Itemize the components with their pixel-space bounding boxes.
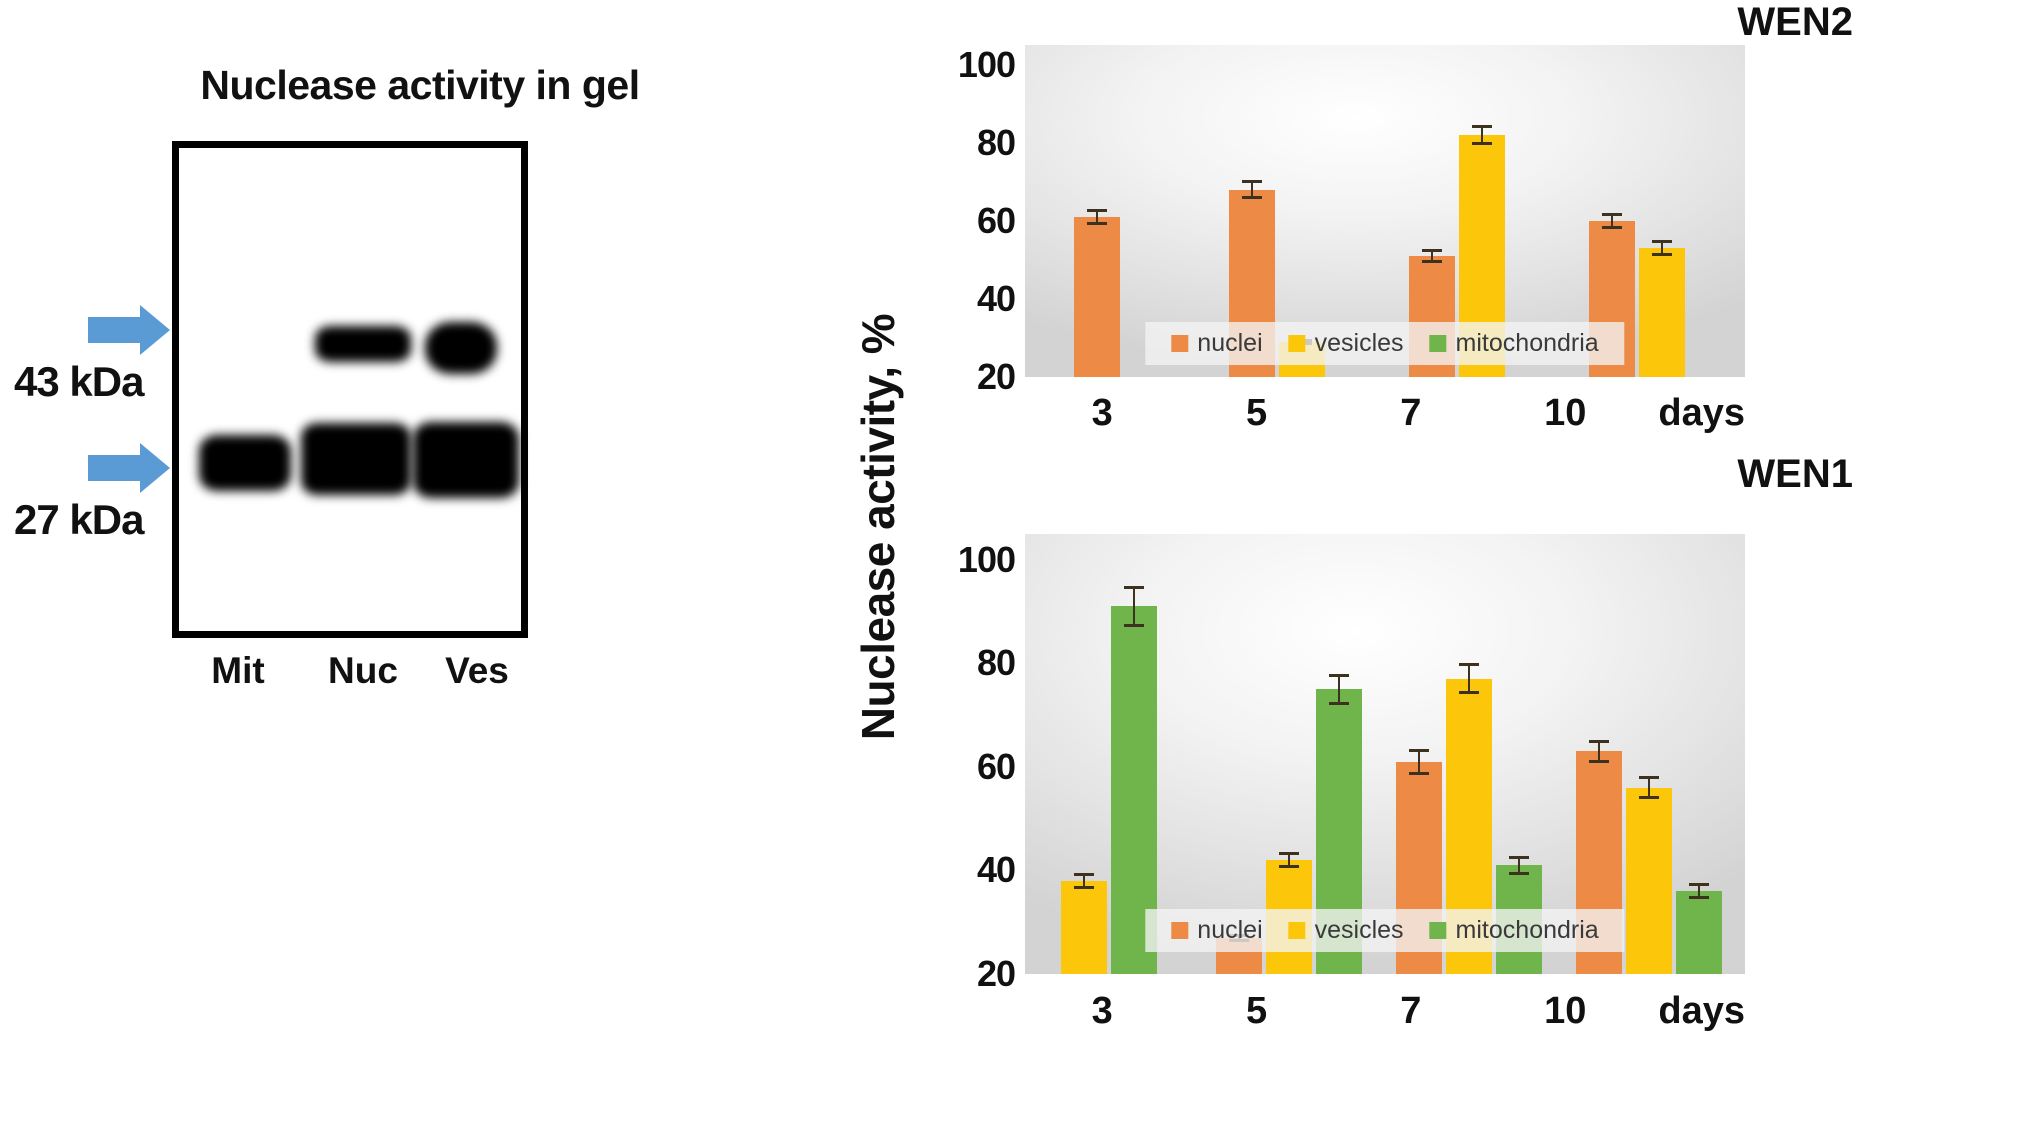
error-bar-nuclei-day7: [1431, 249, 1433, 263]
error-bar-vesicles-day10: [1648, 776, 1650, 799]
y-tick-40: 40: [895, 278, 1015, 320]
gel-lane-labels: Mit Nuc Ves: [172, 650, 532, 692]
legend-item-nuclei: nuclei: [1171, 916, 1262, 945]
y-axis-ticks-wen1: 10080604020: [885, 534, 1015, 974]
legend-label-vesicles: vesicles: [1315, 916, 1404, 945]
legend-swatch-mitochondria-icon: [1430, 335, 1447, 352]
chart-title-wen2: WEN2: [1737, 0, 1853, 45]
legend-item-mitochondria: mitochondria: [1430, 916, 1599, 945]
chart-legend-wen1: nucleivesiclesmitochondria: [1145, 909, 1624, 952]
bars-layer-wen1: [1025, 534, 1745, 974]
error-bar-mitochondria-day3: [1133, 586, 1135, 627]
gel-lane-label-nuc: Nuc: [304, 650, 422, 692]
y-tick-100: 100: [895, 539, 1015, 581]
legend-swatch-vesicles-icon: [1289, 922, 1306, 939]
y-tick-20: 20: [895, 953, 1015, 995]
error-bar-vesicles-day10: [1661, 240, 1663, 256]
legend-label-mitochondria: mitochondria: [1456, 329, 1599, 358]
chart-legend-wen2: nucleivesiclesmitochondria: [1145, 322, 1624, 365]
gel-band-ves-27: [413, 422, 519, 498]
error-bar-nuclei-day3: [1096, 209, 1098, 225]
y-tick-60: 60: [895, 746, 1015, 788]
x-axis-unit-label: days: [1658, 392, 1745, 435]
legend-label-mitochondria: mitochondria: [1456, 916, 1599, 945]
legend-swatch-vesicles-icon: [1289, 335, 1306, 352]
legend-item-mitochondria: mitochondria: [1430, 329, 1599, 358]
bar-vesicles-day10: [1626, 788, 1672, 974]
error-bar-vesicles-day7: [1468, 663, 1470, 694]
x-tick-3: 3: [1025, 392, 1179, 435]
error-bar-nuclei-day10: [1598, 740, 1600, 763]
y-tick-80: 80: [895, 122, 1015, 164]
gel-lane-label-ves: Ves: [422, 650, 532, 692]
marker-label-27kda: 27 kDa: [14, 496, 143, 544]
bar-vesicles-day10: [1639, 248, 1685, 377]
x-axis-unit-label: days: [1658, 990, 1745, 1033]
charts-panel: Nuclease activity, % WEN2 10080604020 nu…: [800, 0, 2025, 1147]
y-tick-60: 60: [895, 200, 1015, 242]
chart-wen1: WEN1 10080604020 nucleivesiclesmitochond…: [800, 452, 2025, 1147]
legend-item-vesicles: vesicles: [1289, 916, 1404, 945]
gel-band-nuc-43: [315, 326, 411, 362]
x-tick-3: 3: [1025, 990, 1179, 1033]
error-bar-vesicles-day3: [1083, 873, 1085, 889]
error-bar-nuclei-day10: [1611, 213, 1613, 229]
error-bar-vesicles-day5: [1288, 852, 1290, 868]
x-axis-wen1: 35710days: [1025, 990, 1745, 1033]
error-bar-mitochondria-day10: [1698, 883, 1700, 899]
error-bar-mitochondria-day5: [1338, 674, 1340, 705]
legend-swatch-mitochondria-icon: [1430, 922, 1447, 939]
legend-swatch-nuclei-icon: [1171, 922, 1188, 939]
x-tick-7: 7: [1334, 990, 1488, 1033]
x-tick-5: 5: [1179, 990, 1333, 1033]
legend-label-nuclei: nuclei: [1197, 329, 1262, 358]
error-bar-nuclei-day5: [1251, 180, 1253, 200]
chart-title-wen1: WEN1: [1737, 452, 1853, 497]
gel-band-mit-27: [199, 435, 291, 491]
plot-area-wen2: nucleivesiclesmitochondria: [1025, 45, 1745, 377]
gel-panel: Nuclease activity in gel 43 kDa 27 kDa M…: [0, 0, 800, 1147]
error-bar-nuclei-day7: [1418, 749, 1420, 775]
x-tick-10: 10: [1488, 392, 1642, 435]
x-tick-5: 5: [1179, 392, 1333, 435]
x-tick-7: 7: [1334, 392, 1488, 435]
legend-item-nuclei: nuclei: [1171, 329, 1262, 358]
legend-label-vesicles: vesicles: [1315, 329, 1404, 358]
gel-title: Nuclease activity in gel: [140, 62, 700, 109]
x-tick-10: 10: [1488, 990, 1642, 1033]
error-bar-mitochondria-day7: [1518, 856, 1520, 875]
gel-band-nuc-27: [301, 423, 411, 495]
y-tick-20: 20: [895, 356, 1015, 398]
marker-label-43kda: 43 kDa: [14, 358, 143, 406]
legend-item-vesicles: vesicles: [1289, 329, 1404, 358]
bar-nuclei-day3: [1074, 217, 1120, 377]
y-tick-80: 80: [895, 642, 1015, 684]
bar-mitochondria-day10: [1676, 891, 1722, 974]
y-axis-ticks-wen2: 10080604020: [885, 45, 1015, 377]
bar-vesicles-day3: [1061, 881, 1107, 974]
legend-label-nuclei: nuclei: [1197, 916, 1262, 945]
y-tick-100: 100: [895, 44, 1015, 86]
gel-image: [172, 141, 528, 638]
gel-lane-label-mit: Mit: [172, 650, 304, 692]
plot-area-wen1: nucleivesiclesmitochondria: [1025, 534, 1745, 974]
y-tick-40: 40: [895, 849, 1015, 891]
legend-swatch-nuclei-icon: [1171, 335, 1188, 352]
error-bar-vesicles-day7: [1481, 125, 1483, 145]
gel-band-ves-43: [425, 322, 497, 374]
x-axis-wen2: 35710days: [1025, 392, 1745, 435]
